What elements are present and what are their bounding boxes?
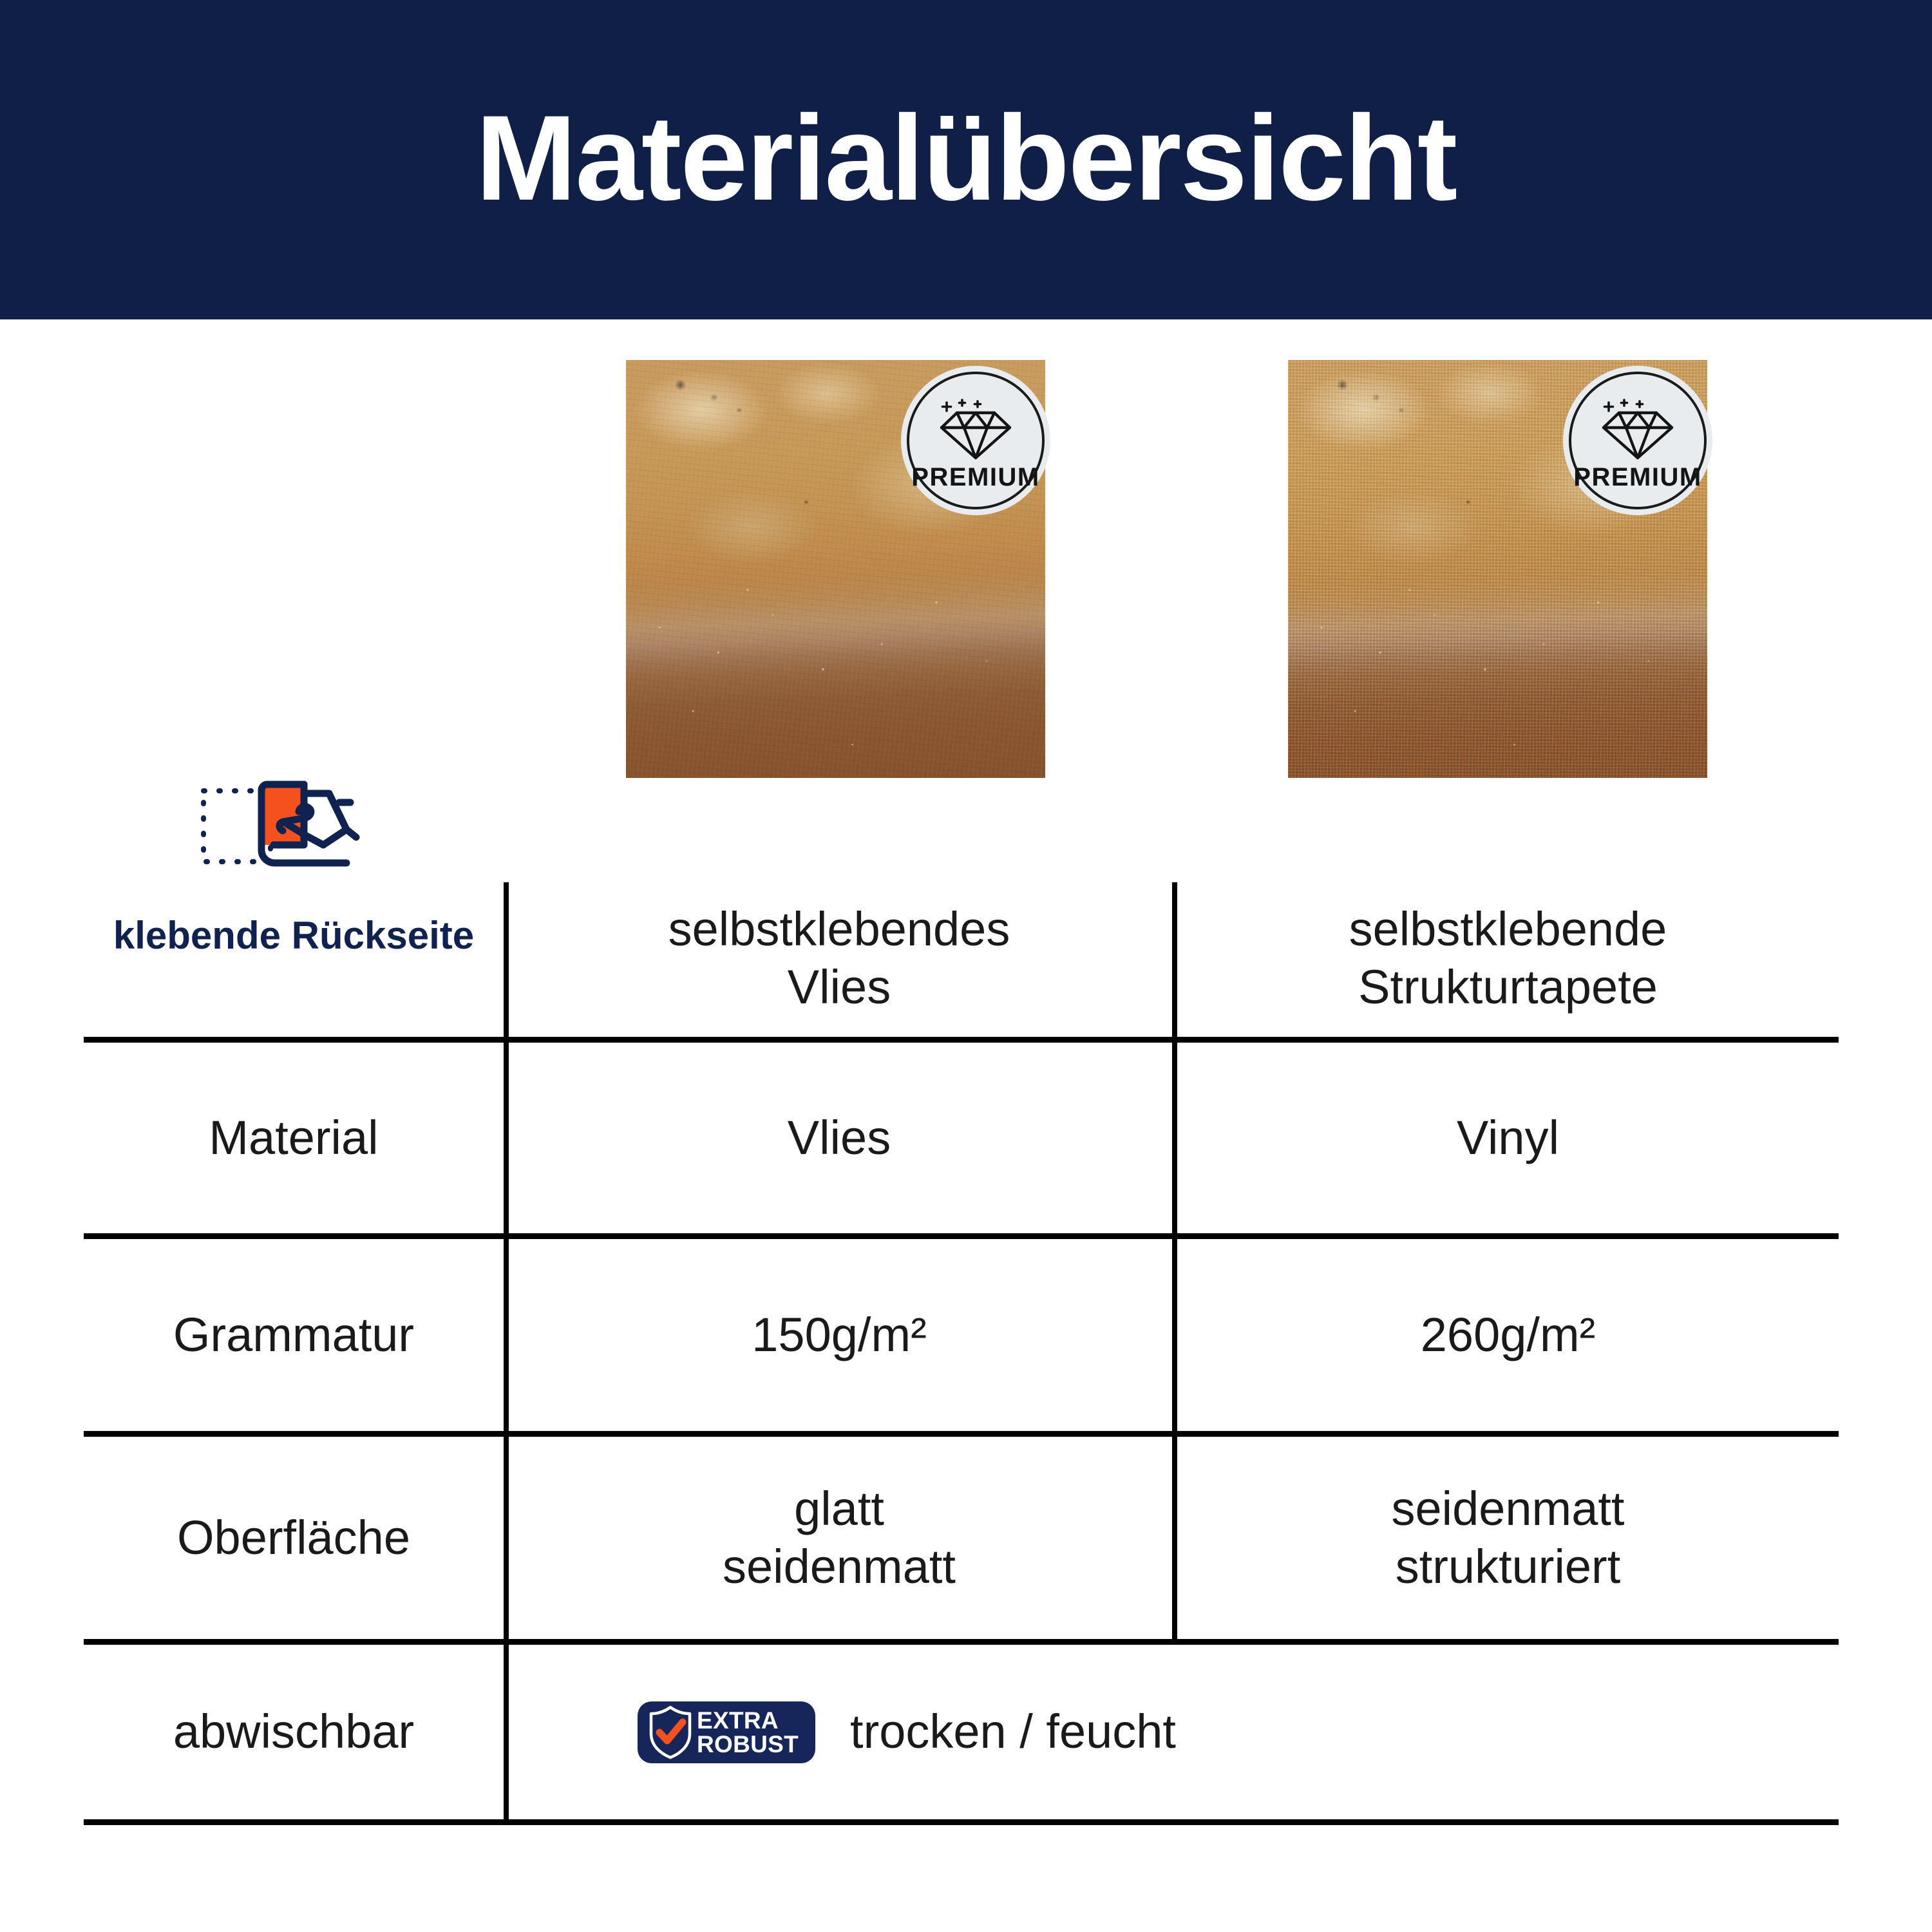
badge-line-1: EXTRA bbox=[697, 1709, 799, 1732]
text-line: seidenmatt bbox=[723, 1538, 956, 1596]
shield-check-icon bbox=[648, 1705, 693, 1759]
adhesive-backing-feature: klebende Rückseite bbox=[84, 773, 504, 959]
text-line: Strukturtapete bbox=[1358, 958, 1658, 1016]
text-line: Vlies bbox=[788, 958, 891, 1016]
text-line: selbstklebende bbox=[1349, 900, 1667, 958]
diamond-icon bbox=[938, 399, 1014, 460]
adhesive-backing-caption: klebende Rückseite bbox=[113, 913, 474, 959]
row-label-material: Material bbox=[84, 1043, 504, 1233]
table-bottom-rule bbox=[84, 1819, 1839, 1825]
premium-badge-label: PREMIUM bbox=[911, 463, 1039, 492]
premium-badge-strukturtapete: PREMIUM bbox=[1563, 366, 1712, 515]
text-line: abwischbar bbox=[173, 1703, 414, 1761]
cell-product-name-strukturtapete: selbstklebende Strukturtapete bbox=[1177, 882, 1839, 1034]
row-label-abwischbar: abwischbar bbox=[84, 1645, 504, 1819]
text-line: Grammatur bbox=[173, 1306, 414, 1364]
premium-badge-label: PREMIUM bbox=[1573, 463, 1701, 492]
text-line: seidenmatt bbox=[1392, 1480, 1625, 1538]
premium-badge-vlies: PREMIUM bbox=[901, 366, 1050, 515]
adhesive-backing-icon bbox=[197, 773, 390, 902]
extra-robust-badge: EXTRA ROBUST bbox=[638, 1701, 815, 1763]
text-line: selbstklebendes bbox=[668, 900, 1010, 958]
column-divider-2 bbox=[1172, 882, 1177, 1642]
column-divider-1 bbox=[504, 882, 509, 1819]
row-divider-3 bbox=[84, 1431, 1839, 1437]
cell-material-strukturtapete: Vinyl bbox=[1177, 1043, 1839, 1233]
row-divider-2 bbox=[84, 1233, 1839, 1239]
caption-line-1: klebende bbox=[113, 914, 281, 957]
cell-grammatur-strukturtapete: 260g/m² bbox=[1177, 1239, 1839, 1431]
row-divider-4 bbox=[84, 1639, 1839, 1645]
cell-product-name-vlies: selbstklebendes Vlies bbox=[509, 882, 1170, 1034]
cell-oberflaeche-vlies: glatt seidenmatt bbox=[509, 1437, 1170, 1639]
text-line: Material bbox=[209, 1109, 378, 1167]
extra-robust-label: EXTRA ROBUST bbox=[697, 1709, 799, 1756]
text-line: 150g/m² bbox=[752, 1306, 926, 1364]
diamond-icon bbox=[1600, 399, 1676, 460]
row-label-oberflaeche: Oberfläche bbox=[84, 1437, 504, 1639]
text-line: Vinyl bbox=[1457, 1109, 1559, 1167]
text-line: 260g/m² bbox=[1421, 1306, 1595, 1364]
cell-oberflaeche-strukturtapete: seidenmatt strukturiert bbox=[1177, 1437, 1839, 1639]
text-line: strukturiert bbox=[1396, 1538, 1621, 1596]
text-line: Oberfläche bbox=[177, 1509, 410, 1567]
cell-abwischbar-value: EXTRA ROBUST trocken / feucht bbox=[509, 1645, 1839, 1819]
badge-line-2: ROBUST bbox=[697, 1732, 799, 1756]
abwischbar-value-text: trocken / feucht bbox=[850, 1703, 1176, 1761]
row-divider-1 bbox=[84, 1037, 1839, 1043]
page-title: Materialübersicht bbox=[476, 97, 1457, 218]
page-header: Materialübersicht bbox=[0, 0, 1932, 319]
cell-material-vlies: Vlies bbox=[509, 1043, 1170, 1233]
caption-line-2: Rückseite bbox=[292, 914, 474, 957]
text-line: Vlies bbox=[788, 1109, 891, 1167]
cell-grammatur-vlies: 150g/m² bbox=[509, 1239, 1170, 1431]
text-line: glatt bbox=[794, 1480, 884, 1538]
row-label-grammatur: Grammatur bbox=[84, 1239, 504, 1431]
